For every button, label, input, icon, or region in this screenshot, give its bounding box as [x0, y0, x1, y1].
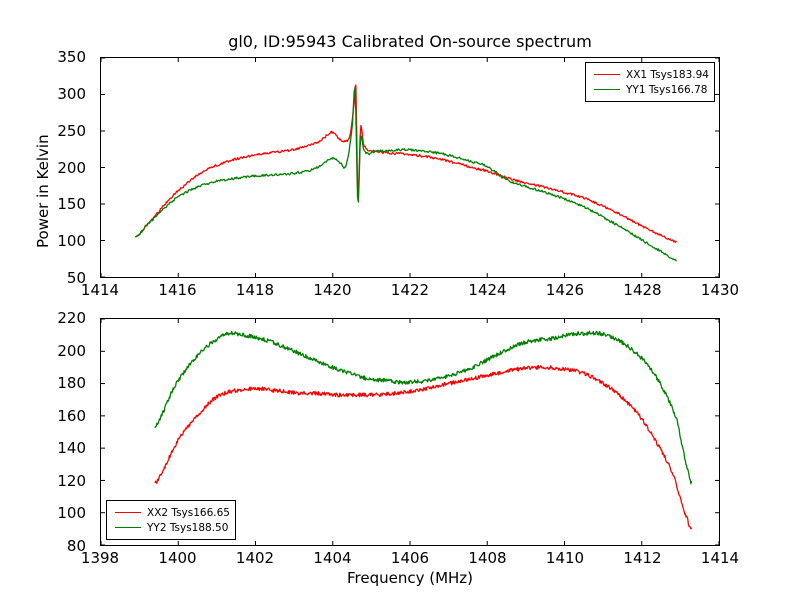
x-tick-label: 1420	[313, 281, 351, 299]
top-y-axis-label: Power in Kelvin	[34, 134, 52, 248]
y-tick-label: 150	[57, 195, 92, 213]
x-tick-label: 1412	[623, 549, 661, 567]
top-x-tick-labels: 141414161418142014221424142614281430	[0, 281, 800, 303]
top-spectrum-axes: XX1 Tsys183.94 YY1 Tsys166.78	[100, 57, 720, 278]
legend-swatch-yy1	[594, 89, 620, 90]
legend-label-xx2: XX2 Tsys166.65	[147, 507, 230, 519]
x-tick-label: 1404	[313, 549, 351, 567]
y-tick-label: 140	[57, 439, 92, 457]
legend-swatch-xx1	[594, 74, 620, 75]
y-tick-label: 200	[57, 159, 92, 177]
legend-item: YY2 Tsys188.50	[111, 520, 230, 535]
bottom-spectrum-axes: XX2 Tsys166.65 YY2 Tsys188.50	[100, 318, 720, 546]
x-tick-label: 1398	[81, 549, 119, 567]
x-tick-label: 1418	[236, 281, 274, 299]
bottom-legend: XX2 Tsys166.65 YY2 Tsys188.50	[106, 500, 236, 540]
y-tick-label: 350	[57, 48, 92, 66]
bottom-x-tick-labels: 139814001402140414061408141014121414	[0, 549, 800, 571]
series-line	[155, 331, 691, 484]
y-tick-label: 100	[57, 232, 92, 250]
x-tick-label: 1406	[391, 549, 429, 567]
x-tick-label: 1416	[158, 281, 196, 299]
y-tick-label: 220	[57, 309, 92, 327]
legend-label-yy1: YY1 Tsys166.78	[626, 84, 707, 96]
y-tick-label: 100	[57, 504, 92, 522]
y-tick-label: 180	[57, 374, 92, 392]
x-tick-label: 1426	[546, 281, 584, 299]
legend-item: XX1 Tsys183.94	[590, 67, 709, 82]
x-tick-label: 1410	[546, 549, 584, 567]
legend-item: YY1 Tsys166.78	[590, 82, 709, 97]
series-line	[136, 88, 676, 260]
x-tick-label: 1422	[391, 281, 429, 299]
y-tick-label: 120	[57, 472, 92, 490]
bottom-x-axis-label: Frequency (MHz)	[100, 569, 720, 587]
top-legend: XX1 Tsys183.94 YY1 Tsys166.78	[585, 62, 715, 102]
legend-label-xx1: XX1 Tsys183.94	[626, 69, 709, 81]
page-title: gl0, ID:95943 Calibrated On-source spect…	[100, 32, 720, 51]
legend-label-yy2: YY2 Tsys188.50	[147, 522, 228, 534]
legend-swatch-xx2	[115, 512, 141, 513]
y-tick-label: 250	[57, 122, 92, 140]
x-tick-label: 1428	[623, 281, 661, 299]
x-tick-label: 1408	[468, 549, 506, 567]
y-tick-label: 160	[57, 407, 92, 425]
y-tick-label: 200	[57, 342, 92, 360]
figure-canvas: gl0, ID:95943 Calibrated On-source spect…	[0, 0, 800, 600]
x-tick-label: 1400	[158, 549, 196, 567]
bottom-y-tick-labels: 80100120140160180200220	[0, 318, 92, 546]
x-tick-label: 1424	[468, 281, 506, 299]
x-tick-label: 1414	[701, 549, 739, 567]
series-line	[136, 85, 676, 242]
legend-item: XX2 Tsys166.65	[111, 505, 230, 520]
x-tick-label: 1402	[236, 549, 274, 567]
legend-swatch-yy2	[115, 527, 141, 528]
y-tick-label: 300	[57, 85, 92, 103]
x-tick-label: 1414	[81, 281, 119, 299]
x-tick-label: 1430	[701, 281, 739, 299]
